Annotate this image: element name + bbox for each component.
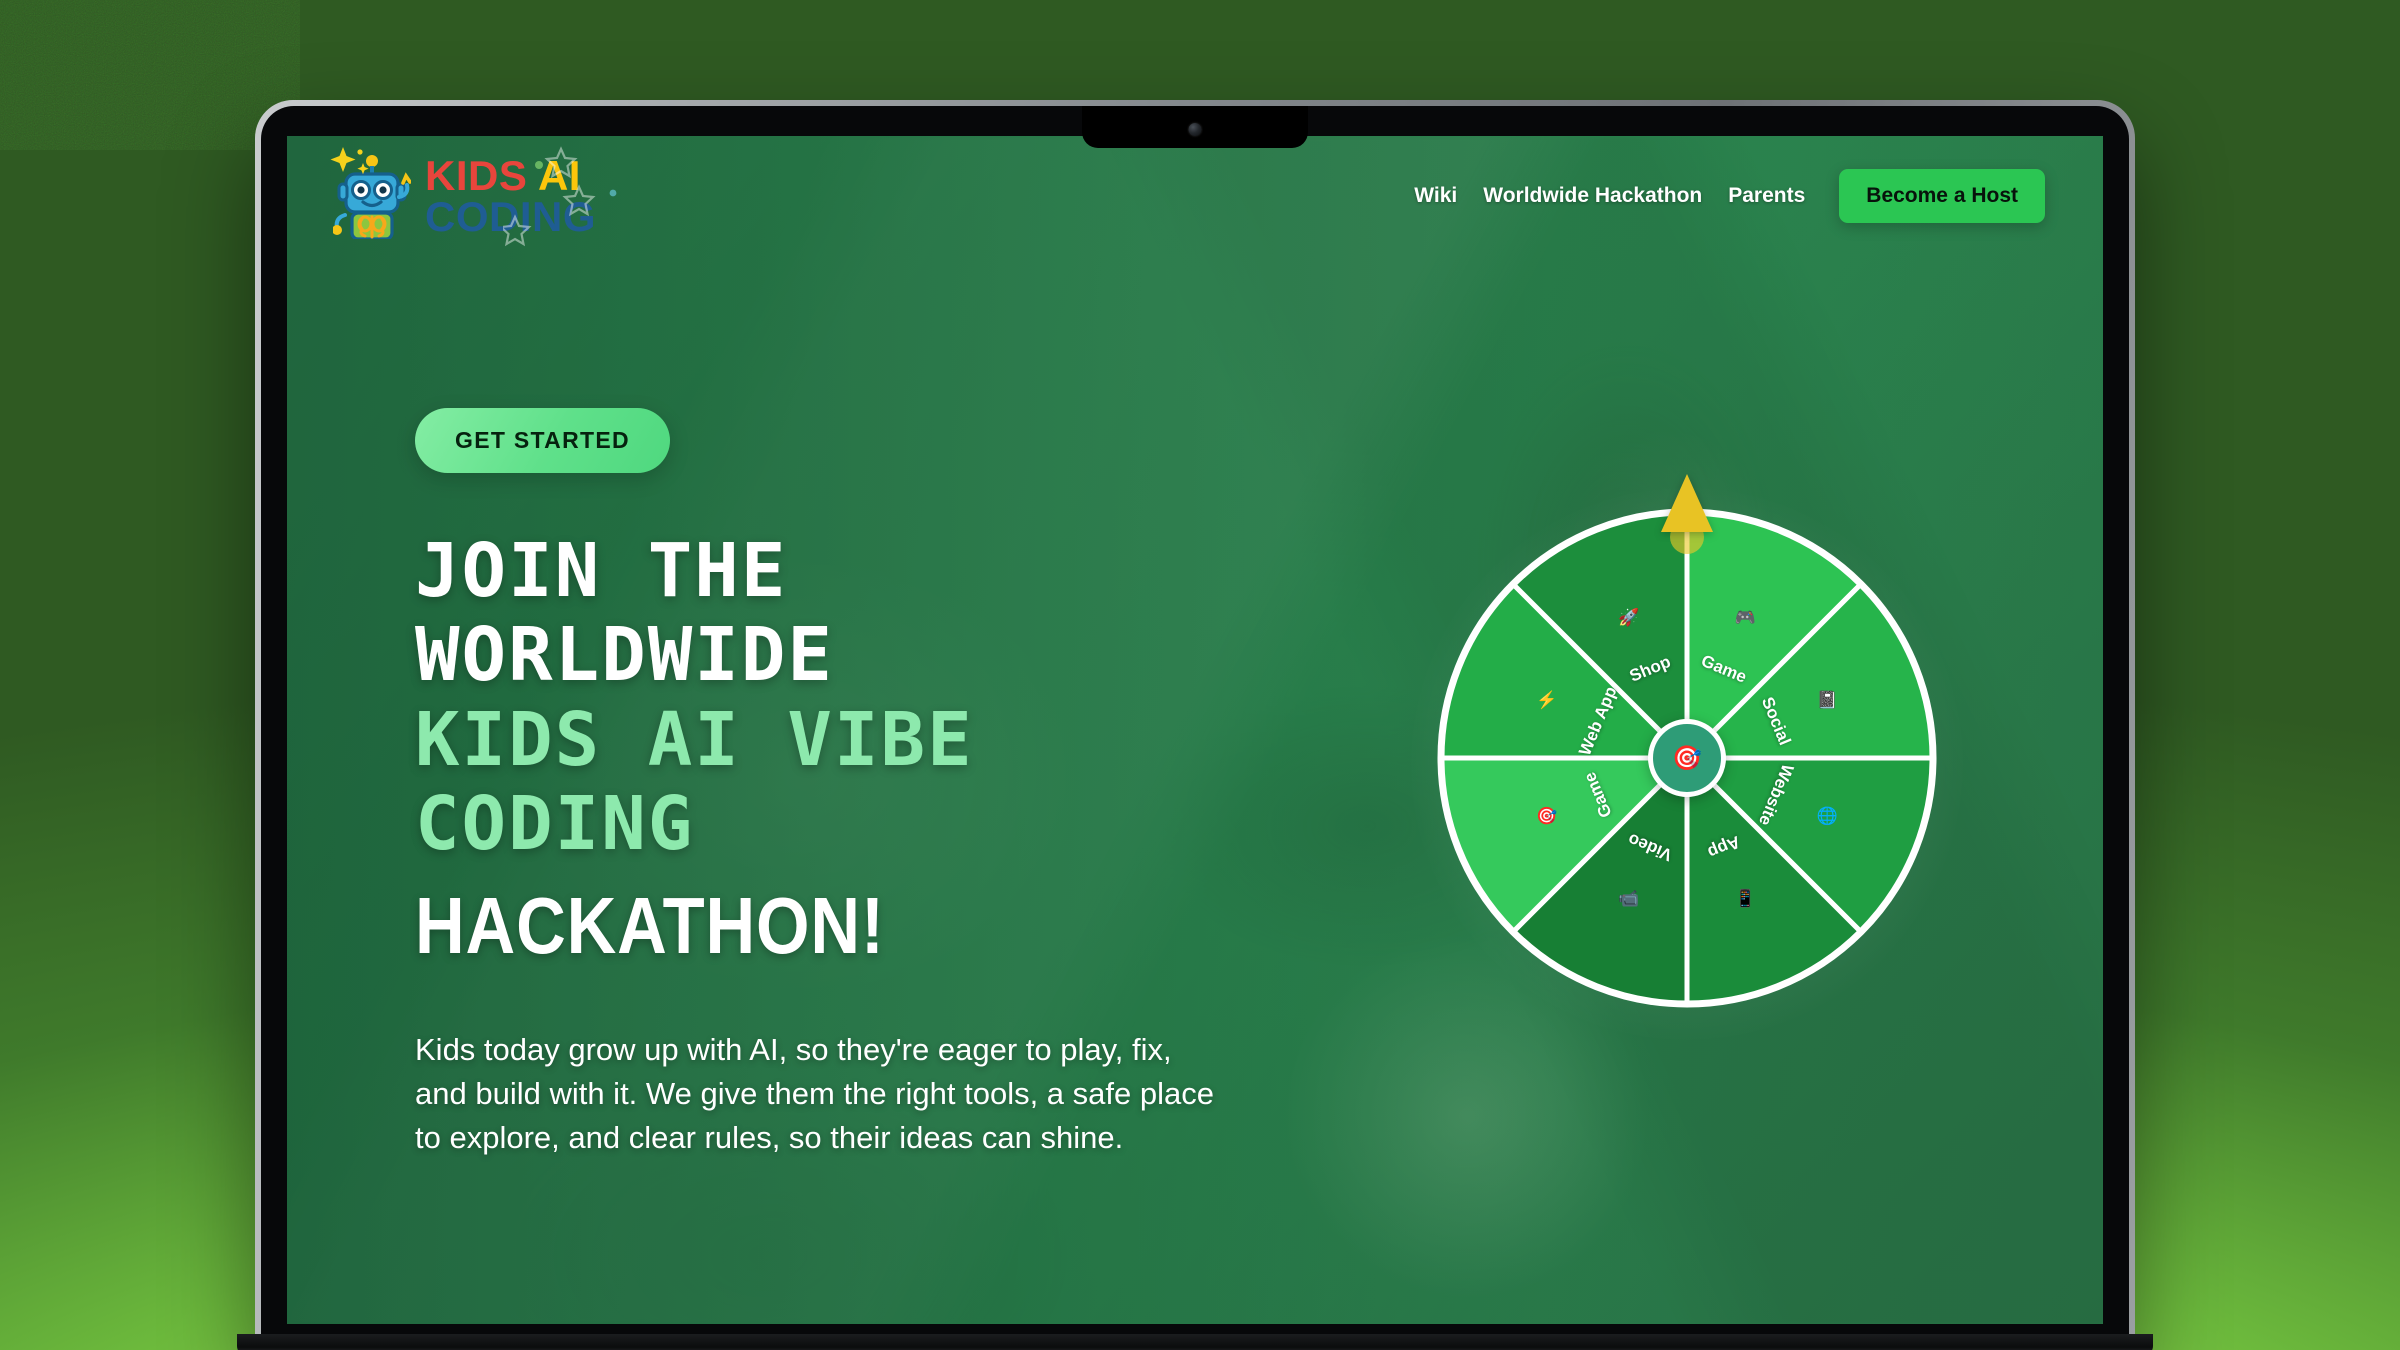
site-header: KIDS AI CODING: [287, 136, 2103, 256]
laptop-base: [237, 1334, 2153, 1350]
nav-link-worldwide-hackathon[interactable]: Worldwide Hackathon: [1483, 184, 1702, 208]
brand-kids: KIDS: [425, 152, 527, 199]
hero-heading-line-3: KIDS AI VIBE: [415, 697, 974, 783]
prize-wheel[interactable]: Game🎮Social📓Website🌐App📱Video📹Game🎯Web A…: [1437, 508, 1937, 1008]
laptop-lid: KIDS AI CODING: [255, 100, 2135, 1350]
get-started-button[interactable]: GET STARTED: [415, 408, 670, 473]
hero-paragraph: Kids today grow up with AI, so they're e…: [415, 1028, 1215, 1161]
nav-link-wiki[interactable]: Wiki: [1414, 184, 1457, 208]
hero-section: GET STARTED JOIN THE WORLDWIDE KIDS AI V…: [415, 408, 1415, 1161]
robot-icon: [333, 153, 411, 239]
hero-heading-line-5: HACKATHON!: [415, 880, 1275, 971]
website-viewport: KIDS AI CODING: [287, 136, 2103, 1324]
laptop-device: KIDS AI CODING: [255, 100, 2135, 1350]
wheel-center-hub[interactable]: 🎯: [1648, 719, 1726, 797]
laptop-bezel: KIDS AI CODING: [261, 106, 2129, 1350]
wheel-pointer-icon: [1661, 474, 1713, 532]
brand-logo[interactable]: KIDS AI CODING: [333, 153, 596, 239]
brand-coding: CODING: [425, 196, 596, 237]
camera-icon: [1189, 123, 1202, 136]
nav-link-parents[interactable]: Parents: [1728, 184, 1805, 208]
brand-wordmark: KIDS AI CODING: [425, 155, 596, 237]
hero-heading-line-1: JOIN THE: [415, 528, 787, 614]
hero-heading: JOIN THE WORLDWIDE KIDS AI VIBE CODING H…: [415, 529, 1415, 972]
main-navigation: Wiki Worldwide Hackathon Parents Become …: [1414, 169, 2045, 223]
laptop-screen: KIDS AI CODING: [287, 136, 2103, 1324]
become-a-host-button[interactable]: Become a Host: [1839, 169, 2045, 223]
brand-ai: AI: [527, 152, 581, 199]
hero-heading-line-2: WORLDWIDE: [415, 612, 834, 698]
hero-heading-line-4: CODING: [415, 781, 694, 867]
